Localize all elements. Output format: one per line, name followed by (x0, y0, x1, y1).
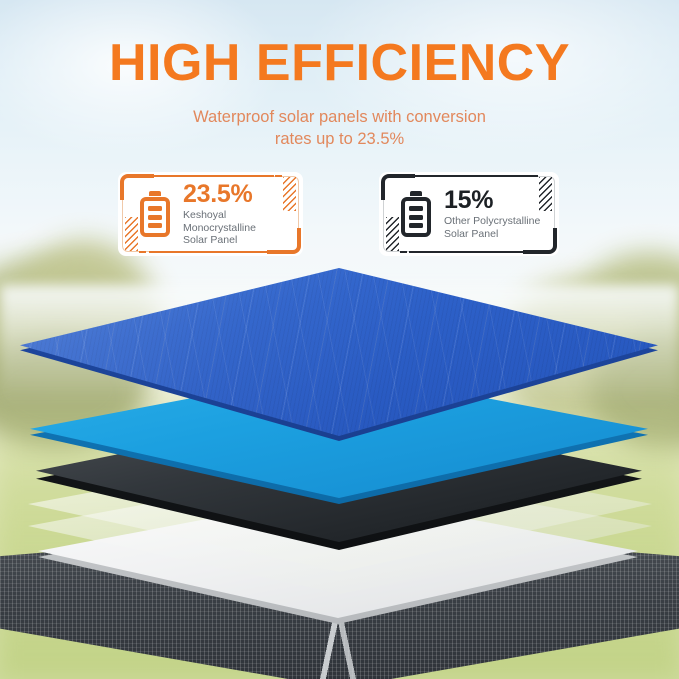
battery-level-bars (401, 197, 431, 237)
card-text-block: 15% Other Polycrystalline Solar Panel (444, 187, 540, 240)
product-infographic: HIGH EFFICIENCY Waterproof solar panels … (0, 0, 679, 679)
efficiency-percent: 23.5% (183, 181, 256, 207)
product-description: Other Polycrystalline Solar Panel (444, 215, 540, 240)
card-text-block: 23.5% Keshoyal Monocrystalline Solar Pan… (183, 181, 256, 247)
card-content: 23.5% Keshoyal Monocrystalline Solar Pan… (118, 172, 303, 256)
battery-cap (149, 191, 161, 196)
badge-card-keshoyal[interactable]: 23.5% Keshoyal Monocrystalline Solar Pan… (118, 172, 303, 256)
description-line-1: Other Polycrystalline (444, 215, 540, 228)
battery-bar (148, 215, 162, 220)
battery-bar (409, 206, 423, 211)
battery-bar (148, 206, 162, 211)
description-line-2: Monocrystalline (183, 222, 256, 235)
battery-bar (409, 223, 423, 228)
product-description: Keshoyal Monocrystalline Solar Panel (183, 209, 256, 247)
exploded-panel-diagram (0, 260, 679, 679)
page-subtitle: Waterproof solar panels with conversion … (0, 106, 679, 150)
battery-bar (148, 223, 162, 228)
subtitle-line-2: rates up to 23.5% (0, 128, 679, 150)
battery-cap (410, 191, 422, 196)
blue-layer-sheen (20, 268, 658, 436)
battery-icon (401, 191, 431, 237)
badge-card-other[interactable]: 15% Other Polycrystalline Solar Panel (379, 172, 559, 256)
battery-icon (140, 191, 170, 237)
efficiency-percent: 15% (444, 187, 540, 213)
subtitle-line-1: Waterproof solar panels with conversion (0, 106, 679, 128)
description-line-2: Solar Panel (444, 228, 540, 241)
battery-level-bars (140, 197, 170, 237)
battery-bar (409, 215, 423, 220)
description-line-1: Keshoyal (183, 209, 256, 222)
page-title: HIGH EFFICIENCY (0, 34, 679, 92)
description-line-3: Solar Panel (183, 234, 256, 247)
card-content: 15% Other Polycrystalline Solar Panel (379, 172, 559, 256)
